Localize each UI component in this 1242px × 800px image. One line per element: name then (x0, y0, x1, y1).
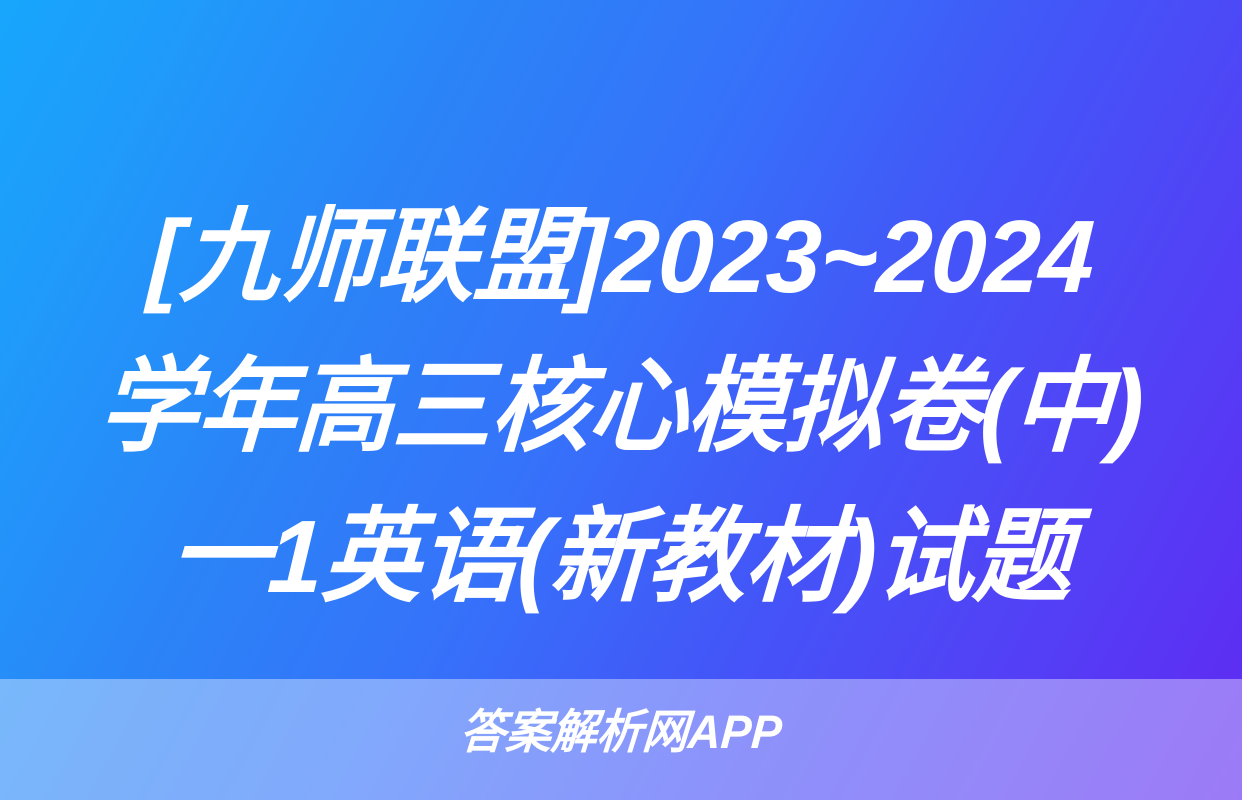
headline-line-3: 一1英语(新教材)试题 (48, 482, 1194, 632)
headline-block: [九师联盟]2023~2024 学年高三核心模拟卷(中) 一1英语(新教材)试题 (0, 182, 1242, 632)
watermark-brand-label: 答案解析网APP (17, 704, 1226, 760)
exam-cover-card: [九师联盟]2023~2024 学年高三核心模拟卷(中) 一1英语(新教材)试题… (0, 0, 1242, 800)
headline-line-2: 学年高三核心模拟卷(中) (48, 332, 1194, 482)
headline-line-1: [九师联盟]2023~2024 (48, 182, 1194, 332)
